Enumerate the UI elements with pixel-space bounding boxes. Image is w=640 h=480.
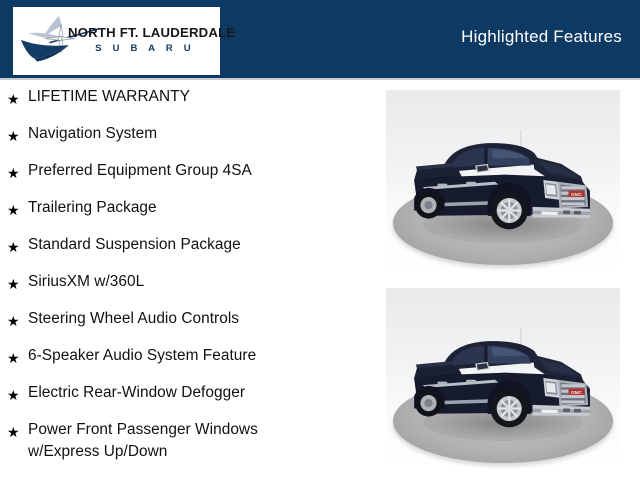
pickup-truck-illustration: GMC [398,317,613,444]
feature-label: Steering Wheel Audio Controls [28,308,370,330]
svg-text:GMC: GMC [571,192,583,197]
dealer-brand: S U B A R U [68,42,218,56]
list-item: ★ Power Front Passenger Windows w/Expres… [0,419,370,463]
star-bullet-icon: ★ [7,273,20,295]
feature-label: 6-Speaker Audio System Feature [28,345,370,367]
page-title: Highlighted Features [461,27,622,47]
header-divider [0,78,640,80]
feature-label: Preferred Equipment Group 4SA [28,160,370,182]
list-item: ★ Steering Wheel Audio Controls [0,308,370,345]
feature-label: Navigation System [28,123,370,145]
star-bullet-icon: ★ [7,162,20,184]
star-bullet-icon: ★ [7,88,20,110]
feature-label: Power Front Passenger Windows w/Express … [28,419,370,463]
header-bar: NORTH FT. LAUDERDALE S U B A R U Highlig… [0,0,640,78]
feature-label: Trailering Package [28,197,370,219]
list-item: ★ Navigation System [0,123,370,160]
vehicle-photo-primary[interactable]: GMC [386,90,620,272]
star-bullet-icon: ★ [7,199,20,221]
dealer-name: NORTH FT. LAUDERDALE [68,25,218,40]
star-bullet-icon: ★ [7,384,20,406]
dealer-logo[interactable]: NORTH FT. LAUDERDALE S U B A R U [13,7,220,75]
star-bullet-icon: ★ [7,125,20,147]
list-item: ★ LIFETIME WARRANTY [0,86,370,123]
pickup-truck-illustration: GMC [398,119,613,246]
list-item: ★ Electric Rear-Window Defogger [0,382,370,419]
list-item: ★ Preferred Equipment Group 4SA [0,160,370,197]
list-item: ★ Trailering Package [0,197,370,234]
dealer-logo-inner: NORTH FT. LAUDERDALE S U B A R U [13,7,220,75]
list-item: ★ Standard Suspension Package [0,234,370,271]
star-bullet-icon: ★ [7,310,20,332]
star-bullet-icon: ★ [7,421,20,443]
dealer-logo-text: NORTH FT. LAUDERDALE S U B A R U [68,25,218,56]
feature-label: Electric Rear-Window Defogger [28,382,370,404]
star-bullet-icon: ★ [7,236,20,258]
feature-label: LIFETIME WARRANTY [28,86,370,108]
svg-text:GMC: GMC [571,390,583,395]
highlighted-features-list: ★ LIFETIME WARRANTY ★ Navigation System … [0,86,370,463]
vehicle-photo-secondary[interactable]: GMC [386,288,620,470]
feature-label: Standard Suspension Package [28,234,370,256]
list-item: ★ 6-Speaker Audio System Feature [0,345,370,382]
star-bullet-icon: ★ [7,347,20,369]
feature-label: SiriusXM w/360L [28,271,370,293]
list-item: ★ SiriusXM w/360L [0,271,370,308]
